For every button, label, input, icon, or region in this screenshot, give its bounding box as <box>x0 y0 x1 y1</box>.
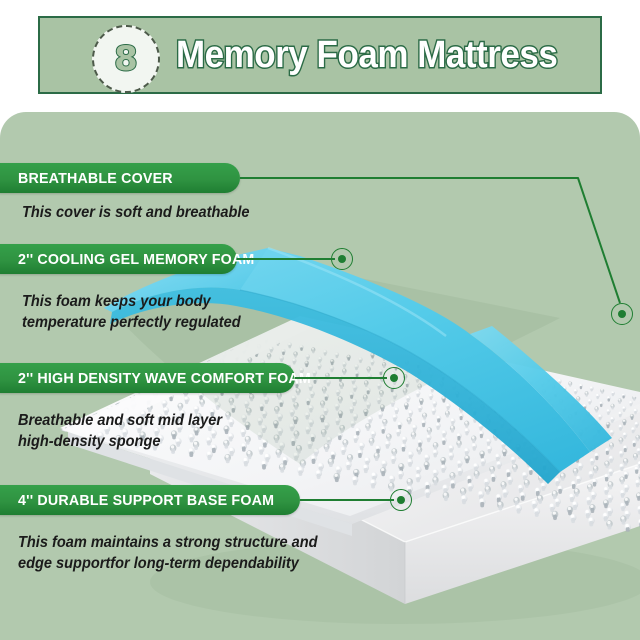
callout-label-4[interactable]: 4'' DURABLE SUPPORT BASE FOAM <box>0 485 300 515</box>
callout-dot-icon-1[interactable] <box>611 303 633 325</box>
leader-line-4 <box>300 499 394 501</box>
leader-line-3 <box>295 377 387 379</box>
page-title: Memory Foam Mattress <box>176 36 557 74</box>
callout-dot-icon-4[interactable] <box>390 489 412 511</box>
callout-desc-2: This foam keeps your body temperature pe… <box>22 292 304 334</box>
callout-label-3-text: 2'' HIGH DENSITY WAVE COMFORT FOAM <box>18 371 311 386</box>
step-number-badge: 8 <box>92 25 160 93</box>
callout-label-2[interactable]: 2'' COOLING GEL MEMORY FOAM <box>0 244 237 274</box>
step-number: 8 <box>114 42 138 76</box>
callout-dot-icon-3[interactable] <box>383 367 405 389</box>
header-bar: 8 Memory Foam Mattress <box>38 16 602 94</box>
callout-desc-1: This cover is soft and breathable <box>22 203 285 224</box>
callout-desc-3: Breathable and soft mid layer high-densi… <box>18 411 300 453</box>
callout-dot-icon-2[interactable] <box>331 248 353 270</box>
callout-label-1-text: BREATHABLE COVER <box>18 171 173 186</box>
callout-label-3[interactable]: 2'' HIGH DENSITY WAVE COMFORT FOAM <box>0 363 295 393</box>
infographic-root: 8 Memory Foam Mattress BREATHABLE COVER … <box>0 0 640 640</box>
callout-label-2-text: 2'' COOLING GEL MEMORY FOAM <box>18 252 255 267</box>
callout-label-4-text: 4'' DURABLE SUPPORT BASE FOAM <box>18 493 274 508</box>
leader-line-2 <box>237 258 335 260</box>
callout-desc-4: This foam maintains a strong structure a… <box>18 533 319 575</box>
callout-label-1[interactable]: BREATHABLE COVER <box>0 163 240 193</box>
